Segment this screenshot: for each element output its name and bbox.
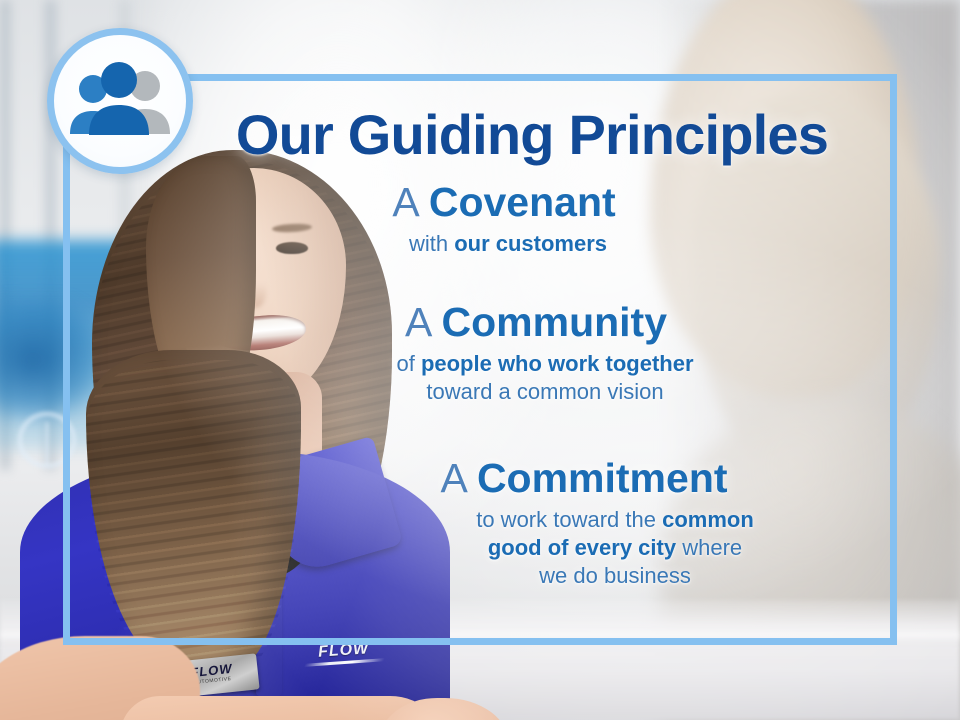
principle-subtext: with our customers bbox=[63, 230, 897, 258]
principle-subtext-line: good of every city where bbox=[333, 534, 897, 562]
subtext-plain: with bbox=[409, 231, 454, 256]
text-content: Our Guiding Principles A Covenant with o… bbox=[63, 74, 897, 645]
principle-keyword: Commitment bbox=[477, 455, 728, 501]
principle-subtext-line: with our customers bbox=[119, 230, 897, 258]
principle-subtext-line: of people who work together bbox=[193, 350, 897, 378]
principle-article: A bbox=[392, 179, 417, 225]
principle-subtext-line: to work toward the common bbox=[333, 506, 897, 534]
principle-headline: A Community bbox=[63, 300, 897, 344]
principle-subtext: to work toward the common good of every … bbox=[63, 506, 897, 590]
principle-block-community: A Community of people who work together … bbox=[63, 300, 897, 406]
principle-headline: A Commitment bbox=[63, 456, 897, 500]
subtext-plain: we do business bbox=[539, 563, 691, 588]
principle-article: A bbox=[440, 455, 465, 501]
subtext-plain: to work toward the bbox=[476, 507, 662, 532]
principle-article: A bbox=[405, 299, 430, 345]
page-title: Our Guiding Principles bbox=[63, 102, 891, 167]
principle-block-commitment: A Commitment to work toward the common g… bbox=[63, 456, 897, 590]
subtext-plain: of bbox=[396, 351, 420, 376]
principle-subtext: of people who work together toward a com… bbox=[63, 350, 897, 406]
subtext-bold: common bbox=[662, 507, 754, 532]
principle-subtext-line: we do business bbox=[333, 562, 897, 590]
principle-headline: A Covenant bbox=[63, 180, 897, 224]
subtext-bold: good of every city bbox=[488, 535, 676, 560]
subtext-bold: people who work together bbox=[421, 351, 694, 376]
subtext-bold: our customers bbox=[454, 231, 607, 256]
guiding-principles-graphic: FLOW AUTOMOTIVE FLOW bbox=[0, 0, 960, 720]
principle-subtext-line: toward a common vision bbox=[193, 378, 897, 406]
principle-keyword: Covenant bbox=[429, 179, 616, 225]
principle-block-covenant: A Covenant with our customers bbox=[63, 180, 897, 258]
subtext-plain: toward a common vision bbox=[426, 379, 663, 404]
principle-keyword: Community bbox=[442, 299, 668, 345]
subtext-tail: where bbox=[676, 535, 742, 560]
